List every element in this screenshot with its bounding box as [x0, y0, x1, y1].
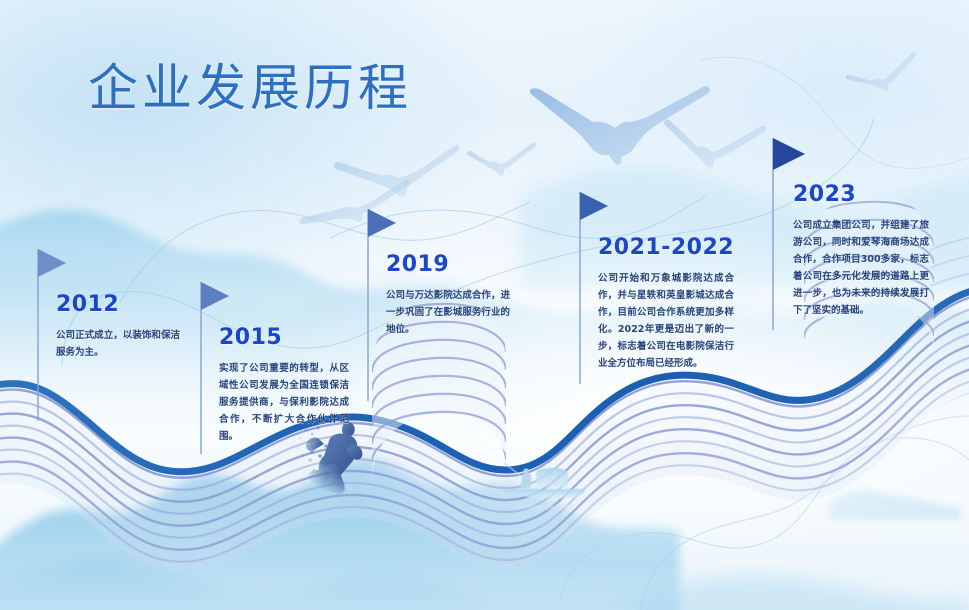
- milestone-2019[interactable]: 2019 公司与万达影院达成合作，进一步巩固了在影城服务行业的地位。: [386, 252, 530, 339]
- milestone-description: 实现了公司重要的转型，从区域性公司发展为全国连锁保洁服务提供商，与保利影院达成合…: [219, 361, 349, 446]
- milestone-year: 2015: [219, 325, 353, 350]
- flag-2023-icon: [767, 130, 811, 330]
- milestone-year: 2021-2022: [598, 235, 738, 260]
- poster-canvas: 企业发展历程 2012 公司正式成立，以装饰和保洁服务为主。 2015 实现了公…: [0, 0, 969, 610]
- seagull-upper-right: [659, 112, 767, 175]
- seagull-small-right: [467, 142, 537, 175]
- milestone-2012[interactable]: 2012 公司正式成立，以装饰和保洁服务为主。: [56, 292, 182, 362]
- milestone-2021-2022[interactable]: 2021-2022 公司开始和万象城影院达成合作，并与星轶和英皇影城达成合作，目…: [598, 235, 738, 372]
- flag-2012-icon: [32, 241, 72, 421]
- milestone-description: 公司开始和万象城影院达成合作，并与星轶和英皇影城达成合作，目前公司合作系统更加多…: [598, 271, 734, 372]
- flag-2019-icon: [362, 201, 402, 401]
- milestone-2023[interactable]: 2023 公司成立集团公司，并组建了旅游公司，同时和爱琴海商场达成合作，合作项目…: [793, 182, 933, 319]
- milestone-description: 公司与万达影院达成合作，进一步巩固了在影城服务行业的地位。: [386, 288, 510, 339]
- boat-group: [504, 463, 585, 510]
- milestone-2015[interactable]: 2015 实现了公司重要的转型，从区域性公司发展为全国连锁保洁服务提供商，与保利…: [219, 325, 353, 446]
- milestone-description: 公司成立集团公司，并组建了旅游公司，同时和爱琴海商场达成合作，合作项目300多家…: [793, 218, 929, 319]
- flag-2021-2022-icon: [574, 184, 614, 384]
- seagull-mid: [334, 145, 460, 196]
- page-title: 企业发展历程: [88, 62, 412, 115]
- flag-2015-icon: [195, 274, 235, 454]
- seagull-tiny: [844, 52, 922, 98]
- milestone-description: 公司正式成立，以装饰和保洁服务为主。: [56, 328, 180, 362]
- seagull-large: [530, 86, 710, 165]
- milestone-year: 2019: [386, 252, 530, 277]
- milestone-year: 2023: [793, 182, 933, 207]
- milestone-year: 2012: [56, 292, 182, 317]
